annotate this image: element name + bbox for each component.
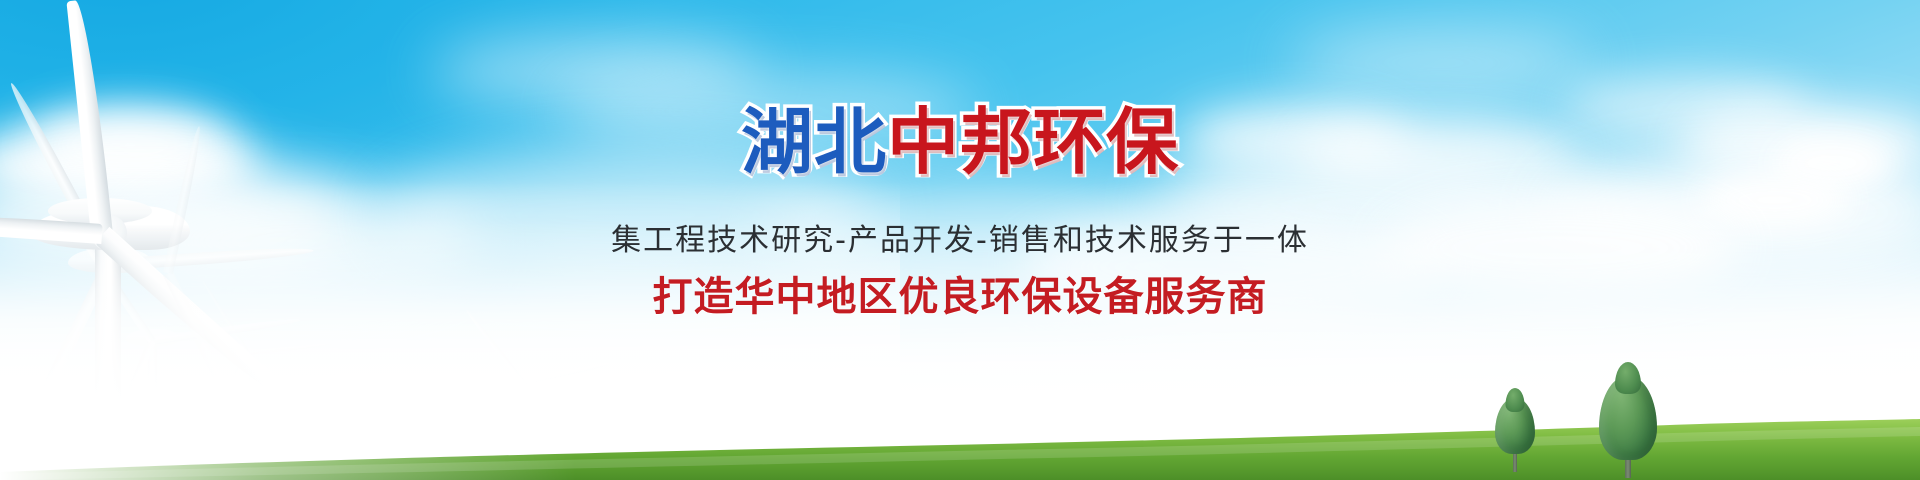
banner-tagline: 打造华中地区优良环保设备服务商 — [0, 272, 1920, 322]
conifer-tree-large — [1597, 362, 1659, 478]
banner-subtitle: 集工程技术研究-产品开发-销售和技术服务于一体 — [0, 222, 1920, 260]
hero-banner: 湖北中邦环保 集工程技术研究-产品开发-销售和技术服务于一体 打造华中地区优良环… — [0, 0, 1920, 480]
banner-headline: 湖北中邦环保 — [0, 104, 1920, 180]
headline-company-name: 中邦环保 — [887, 100, 1179, 184]
headline-company-region: 湖北 — [741, 100, 887, 184]
conifer-tree-small — [1493, 388, 1537, 472]
